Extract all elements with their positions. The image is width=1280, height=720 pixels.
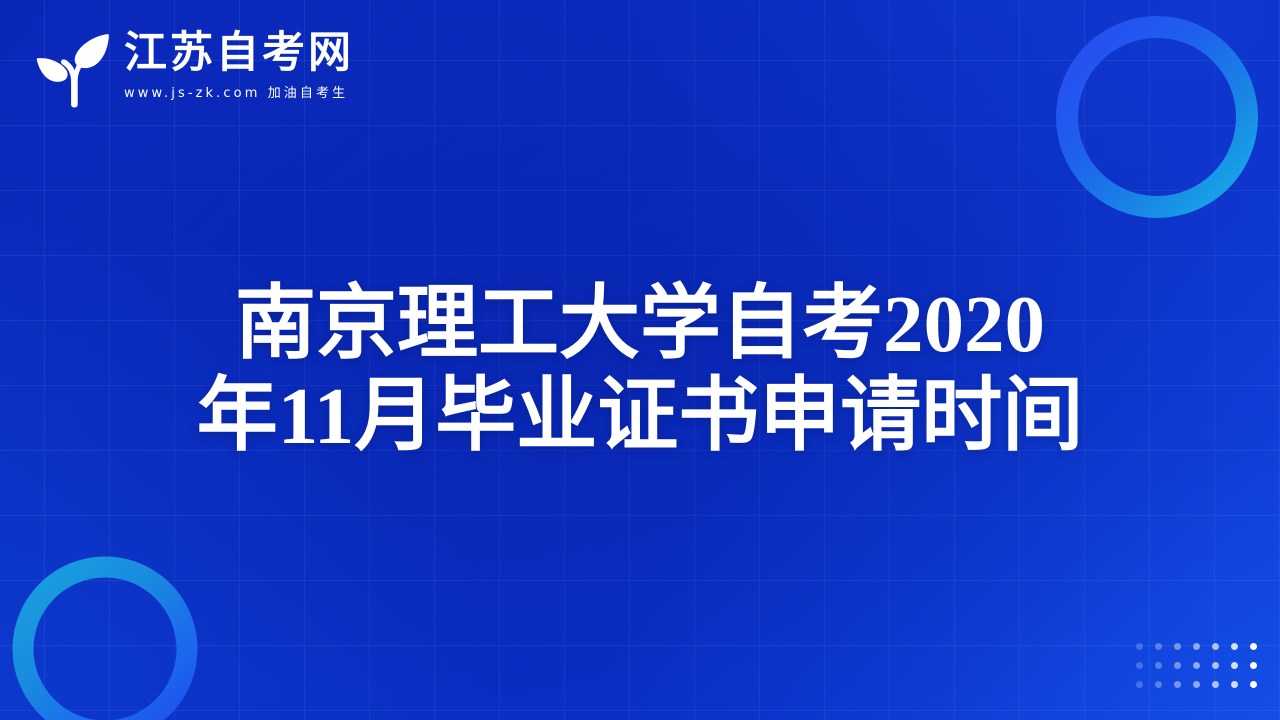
ring-bottom-left bbox=[12, 556, 198, 720]
brand-name: 江苏自考网 bbox=[124, 28, 354, 78]
poster-canvas: 江苏自考网 www.js-zk.com 加油自考生 南京理工大学自考2020 年… bbox=[0, 0, 1280, 720]
brand-tagline: www.js-zk.com 加油自考生 bbox=[124, 84, 354, 104]
sprout-icon bbox=[36, 30, 110, 108]
ring-top-right bbox=[1056, 16, 1258, 218]
brand-logo[interactable]: 江苏自考网 www.js-zk.com 加油自考生 bbox=[36, 28, 354, 108]
dot-grid bbox=[1130, 637, 1263, 694]
page-title-line-1: 南京理工大学自考2020 bbox=[40, 278, 1240, 370]
page-title: 南京理工大学自考2020 年11月毕业证书申请时间 bbox=[0, 278, 1280, 462]
page-title-line-2: 年11月毕业证书申请时间 bbox=[40, 370, 1240, 462]
